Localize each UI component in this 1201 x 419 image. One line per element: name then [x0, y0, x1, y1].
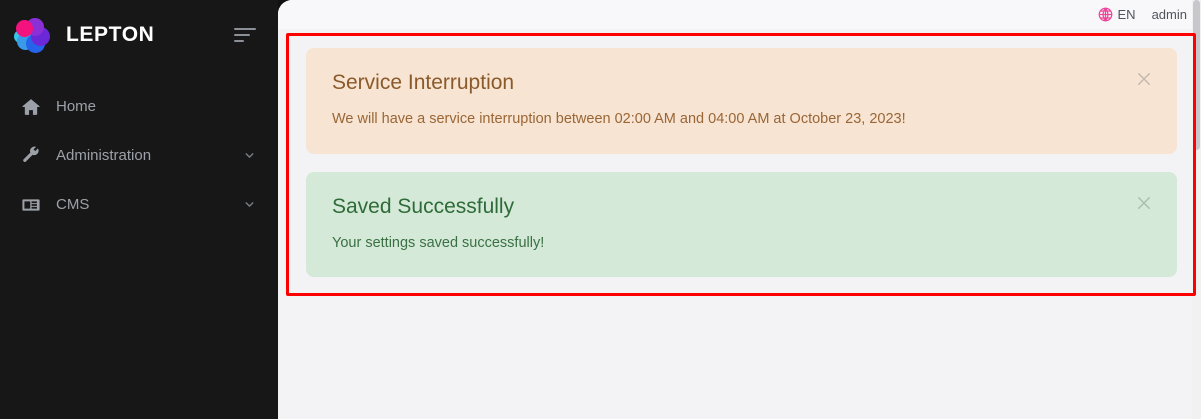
- lepton-pinwheel-logo-icon: [14, 16, 52, 54]
- hamburger-sort-icon[interactable]: [234, 26, 256, 44]
- scrollbar-track[interactable]: [1192, 0, 1201, 419]
- main-content: EN admin Service Interruption We will ha…: [278, 0, 1201, 419]
- brand-name: LEPTON: [66, 23, 154, 47]
- chevron-down-icon-administration[interactable]: [242, 149, 256, 163]
- sidebar-item-label-home: Home: [56, 98, 256, 115]
- sidebar-nav: Home Administration: [0, 70, 278, 229]
- sidebar: LEPTON Home Ad: [0, 0, 278, 419]
- brand-header: LEPTON: [0, 0, 278, 70]
- globe-icon: [1098, 7, 1113, 22]
- alert-message: We will have a service interruption betw…: [332, 109, 1151, 129]
- chevron-down-icon-cms[interactable]: [242, 198, 256, 212]
- language-selector[interactable]: EN: [1098, 7, 1136, 22]
- close-icon[interactable]: [1133, 192, 1155, 214]
- alerts-container: Service Interruption We will have a serv…: [278, 29, 1201, 277]
- scrollbar-thumb[interactable]: [1193, 0, 1200, 150]
- sidebar-item-home[interactable]: Home: [0, 82, 278, 131]
- user-menu[interactable]: admin: [1152, 7, 1187, 22]
- language-label: EN: [1118, 7, 1136, 22]
- sidebar-item-administration[interactable]: Administration: [0, 131, 278, 180]
- sidebar-item-label-administration: Administration: [56, 147, 242, 164]
- sidebar-item-cms[interactable]: CMS: [0, 180, 278, 229]
- topbar: EN admin: [278, 0, 1201, 29]
- alert-title: Service Interruption: [332, 70, 1151, 96]
- alert-saved-successfully: Saved Successfully Your settings saved s…: [306, 172, 1177, 278]
- alert-title: Saved Successfully: [332, 194, 1151, 220]
- close-icon[interactable]: [1133, 68, 1155, 90]
- alert-message: Your settings saved successfully!: [332, 233, 1151, 253]
- id-card-icon: [20, 194, 42, 216]
- alert-service-interruption: Service Interruption We will have a serv…: [306, 48, 1177, 154]
- sidebar-item-label-cms: CMS: [56, 196, 242, 213]
- app-root: LEPTON Home Ad: [0, 0, 1201, 419]
- wrench-icon: [20, 145, 42, 167]
- home-icon: [20, 96, 42, 118]
